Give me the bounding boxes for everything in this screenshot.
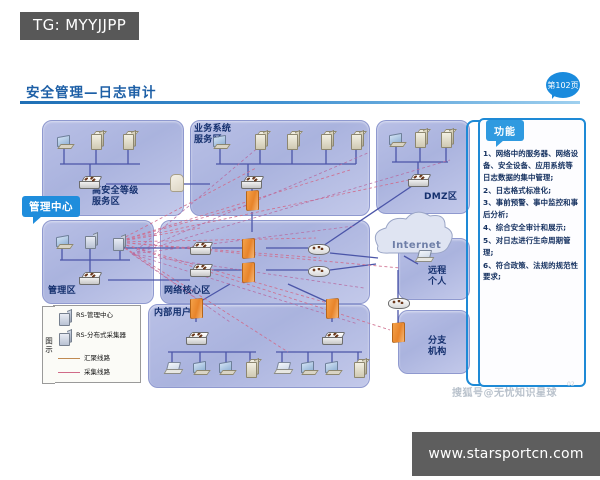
collection-line-icon xyxy=(58,372,80,373)
zone-label-branch-office: 分支 机构 xyxy=(428,336,447,359)
core-switch-icon xyxy=(190,242,212,254)
switch-icon xyxy=(241,176,263,188)
router-icon xyxy=(308,264,328,276)
legend-label: RS-分布式采集器 xyxy=(76,331,128,339)
server-icon xyxy=(350,132,363,149)
zone-label-management: 管理区 xyxy=(48,286,76,297)
zone-label-high-security: 高安全等级 服务区 xyxy=(92,186,139,209)
workstation-icon xyxy=(219,362,234,374)
firewall-icon xyxy=(242,238,255,259)
server-icon xyxy=(414,130,427,147)
page-number-badge: 第102页 xyxy=(546,72,580,98)
server-icon xyxy=(254,132,267,149)
sohu-watermark: 搜狐号@无忧知识星球 xyxy=(452,384,557,399)
legend-label: 采集线路 xyxy=(84,368,136,376)
info-item: 3、事前预警、事中监控和事后分析; xyxy=(483,197,579,221)
switch-icon xyxy=(408,174,430,186)
url-watermark-bar: www.starsportcn.com xyxy=(412,432,600,476)
switch-icon xyxy=(186,332,208,344)
switch-icon xyxy=(79,176,101,188)
legend-side-label: 图示 xyxy=(44,337,55,354)
server-icon xyxy=(320,132,333,149)
slide-canvas: TG: MYYJJPP 安全管理—日志审计 第102页 xyxy=(0,0,600,480)
rs-collector-icon xyxy=(112,236,126,250)
info-item: 5、对日志进行生命周期管理; xyxy=(483,235,579,259)
info-item: 1、网络中的服务器、网络设备、安全设备、应用系统等日志数据的集中管理; xyxy=(483,148,579,184)
server-icon xyxy=(90,132,103,149)
page-number-label: 第102页 xyxy=(546,72,580,98)
legend-item-rs-management-center: RS-管理中心 xyxy=(58,311,128,325)
workstation-icon xyxy=(193,362,208,374)
rs-distributed-collector-icon xyxy=(58,331,72,345)
legend-item-aggregation-line: 汇聚线路 xyxy=(58,354,136,362)
info-panel-tab: 功能 xyxy=(486,120,524,141)
workstation-icon xyxy=(56,236,71,248)
info-item: 6、符合政策、法规的规范性要求; xyxy=(483,260,579,284)
legend-box: 图示 RS-管理中心 RS-分布式采集器 汇聚线路 采集线路 xyxy=(53,305,141,383)
firewall-icon xyxy=(392,322,405,343)
title-divider xyxy=(20,101,580,104)
switch-icon xyxy=(322,332,344,344)
workstation-icon xyxy=(325,362,340,374)
page-title: 安全管理—日志审计 xyxy=(26,81,157,101)
rs-management-center-icon xyxy=(84,234,98,248)
gateway-icon xyxy=(170,174,184,192)
info-item: 4、综合安全审计和展示; xyxy=(483,222,579,234)
router-icon xyxy=(308,242,328,254)
server-icon xyxy=(122,132,135,149)
legend-label: 汇聚线路 xyxy=(84,354,136,362)
server-icon xyxy=(286,132,299,149)
rs-management-center-icon xyxy=(58,311,72,325)
workstation-icon xyxy=(213,136,228,148)
firewall-icon xyxy=(326,298,339,319)
zone-label-dmz: DMZ区 xyxy=(424,192,457,203)
workstation-icon xyxy=(389,134,404,146)
server-icon xyxy=(245,360,258,377)
firewall-icon xyxy=(190,298,203,319)
laptop-icon xyxy=(416,250,431,261)
zone-label-remote-individual: 远程 个人 xyxy=(428,266,447,289)
router-icon xyxy=(388,296,408,308)
switch-icon xyxy=(79,272,101,284)
legend-item-rs-distributed-collector: RS-分布式采集器 xyxy=(58,331,128,345)
corner-number-watermark: 02 xyxy=(567,381,575,388)
legend-label: RS-管理中心 xyxy=(76,311,128,319)
legend-side-tab: 图示 xyxy=(42,306,55,384)
legend-item-collection-line: 采集线路 xyxy=(58,368,136,376)
core-switch-icon xyxy=(190,264,212,276)
laptop-icon xyxy=(165,362,180,373)
url-watermark-text: www.starsportcn.com xyxy=(428,446,583,462)
zone-label-network-core: 网络核心区 xyxy=(164,286,211,297)
info-panel-body: 1、网络中的服务器、网络设备、安全设备、应用系统等日志数据的集中管理; 2、日志… xyxy=(483,148,579,376)
laptop-icon xyxy=(275,362,290,373)
server-icon xyxy=(440,130,453,147)
firewall-icon xyxy=(246,190,259,211)
server-icon xyxy=(353,360,366,377)
firewall-icon xyxy=(242,262,255,283)
management-center-callout: 管理中心 xyxy=(22,196,80,217)
workstation-icon xyxy=(57,136,72,148)
tg-tag: TG: MYYJJPP xyxy=(20,12,139,40)
info-item: 2、日志格式标准化; xyxy=(483,185,579,197)
workstation-icon xyxy=(301,362,316,374)
aggregation-line-icon xyxy=(58,358,80,359)
